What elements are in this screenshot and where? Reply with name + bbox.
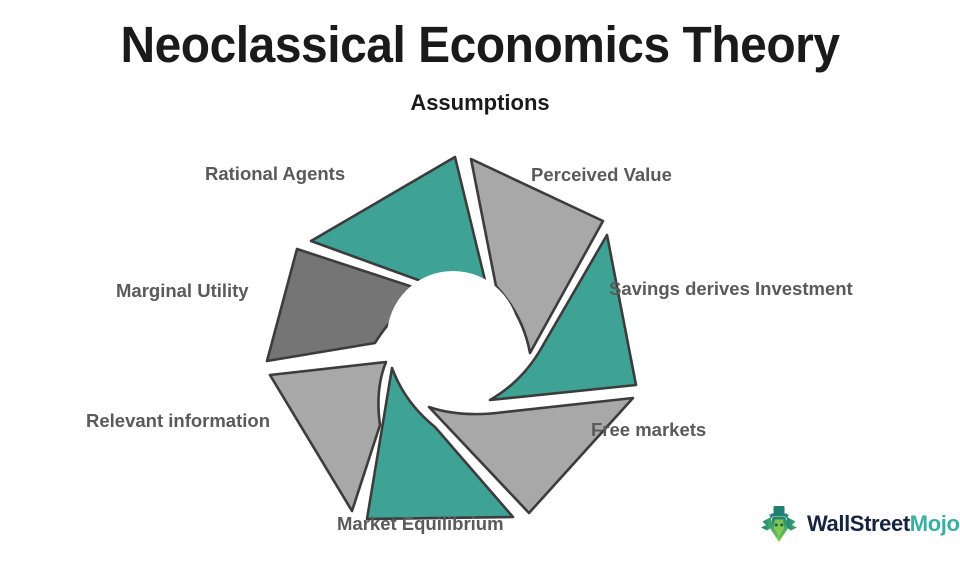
label-rational-agents: Rational Agents (205, 163, 345, 185)
pinwheel-svg (255, 135, 675, 535)
label-marginal-utility: Marginal Utility (116, 280, 249, 302)
logo-text-wallstreet: WallStreet (807, 511, 910, 536)
label-market-equilibrium: Market Equilibrium (337, 513, 504, 535)
label-free-markets: Free markets (591, 419, 706, 441)
blade-relevant-information (270, 362, 386, 511)
logo-wordmark: WallStreetMojo (807, 512, 960, 536)
label-perceived-value: Perceived Value (531, 164, 672, 186)
label-relevant-information: Relevant information (86, 410, 270, 432)
logo-text-mojo: Mojo (910, 511, 960, 536)
page-title: Neoclassical Economics Theory (29, 16, 931, 74)
label-savings-derives-investment: Savings derives Investment (609, 278, 853, 300)
center-aperture (387, 271, 519, 403)
slide-canvas: Neoclassical Economics Theory Assumption… (0, 0, 960, 567)
wallstreetmojo-logo: WallStreetMojo (758, 500, 954, 548)
page-subtitle: Assumptions (0, 88, 960, 118)
bull-mascot-icon (758, 503, 800, 545)
pinwheel-diagram (255, 135, 675, 535)
